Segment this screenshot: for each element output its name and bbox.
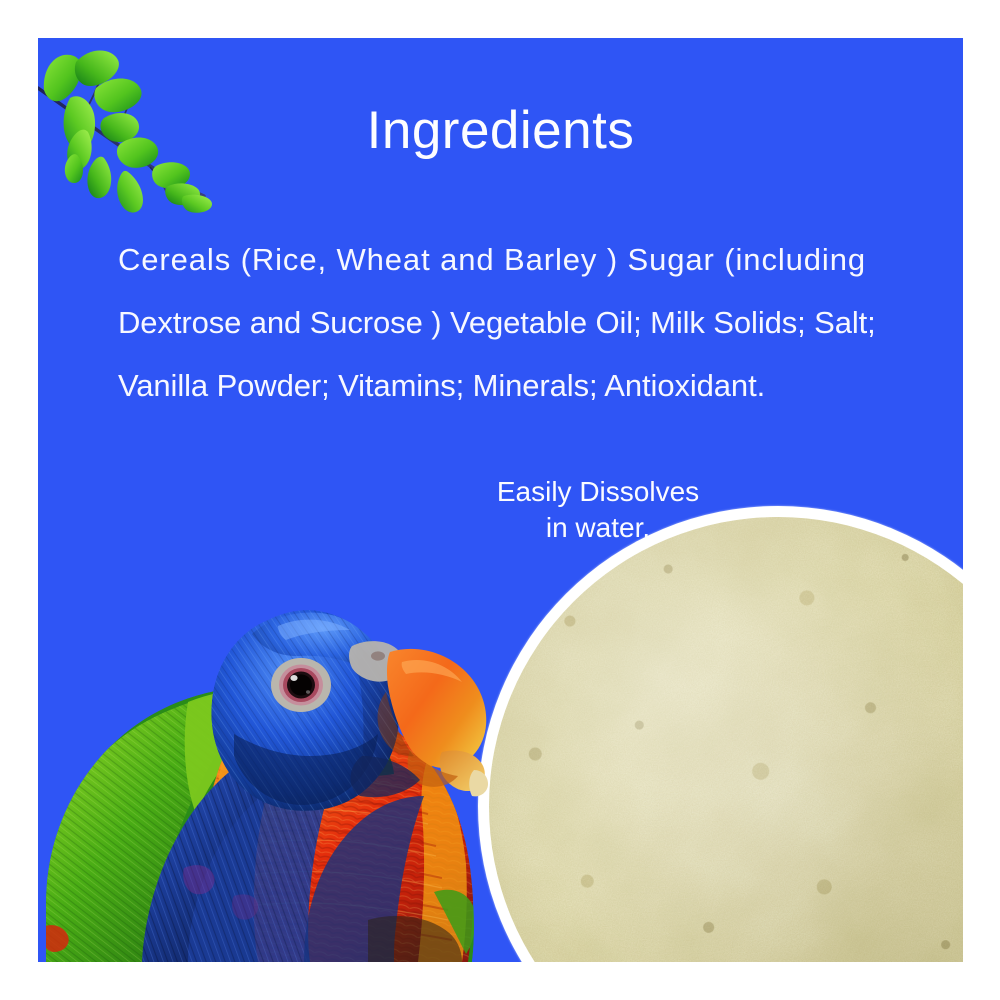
ingredients-line-2: Dextrose and Sucrose ) Vegetable Oil; Mi… [118,291,928,354]
ingredients-line-3: Vanilla Powder; Vitamins; Minerals; Anti… [118,354,928,417]
milk-powder-closeup-image [478,506,963,962]
poster-root: Ingredients Cereals (Rice, Wheat and Bar… [0,0,1000,1000]
tagline-line-1: Easily Dissolves [453,474,743,510]
ingredients-line-1: Cereals (Rice, Wheat and Barley ) Sugar … [118,228,928,291]
blue-content-panel: Ingredients Cereals (Rice, Wheat and Bar… [38,38,963,962]
ingredients-text-block: Cereals (Rice, Wheat and Barley ) Sugar … [118,228,928,417]
powder-texture-disc [489,517,963,962]
rainbow-lorikeet-image [38,434,508,962]
tagline-line-2: in water. [453,510,743,546]
powder-lighting-overlay [489,517,963,962]
page-title: Ingredients [38,100,963,161]
tagline-block: Easily Dissolves in water. [453,474,743,546]
